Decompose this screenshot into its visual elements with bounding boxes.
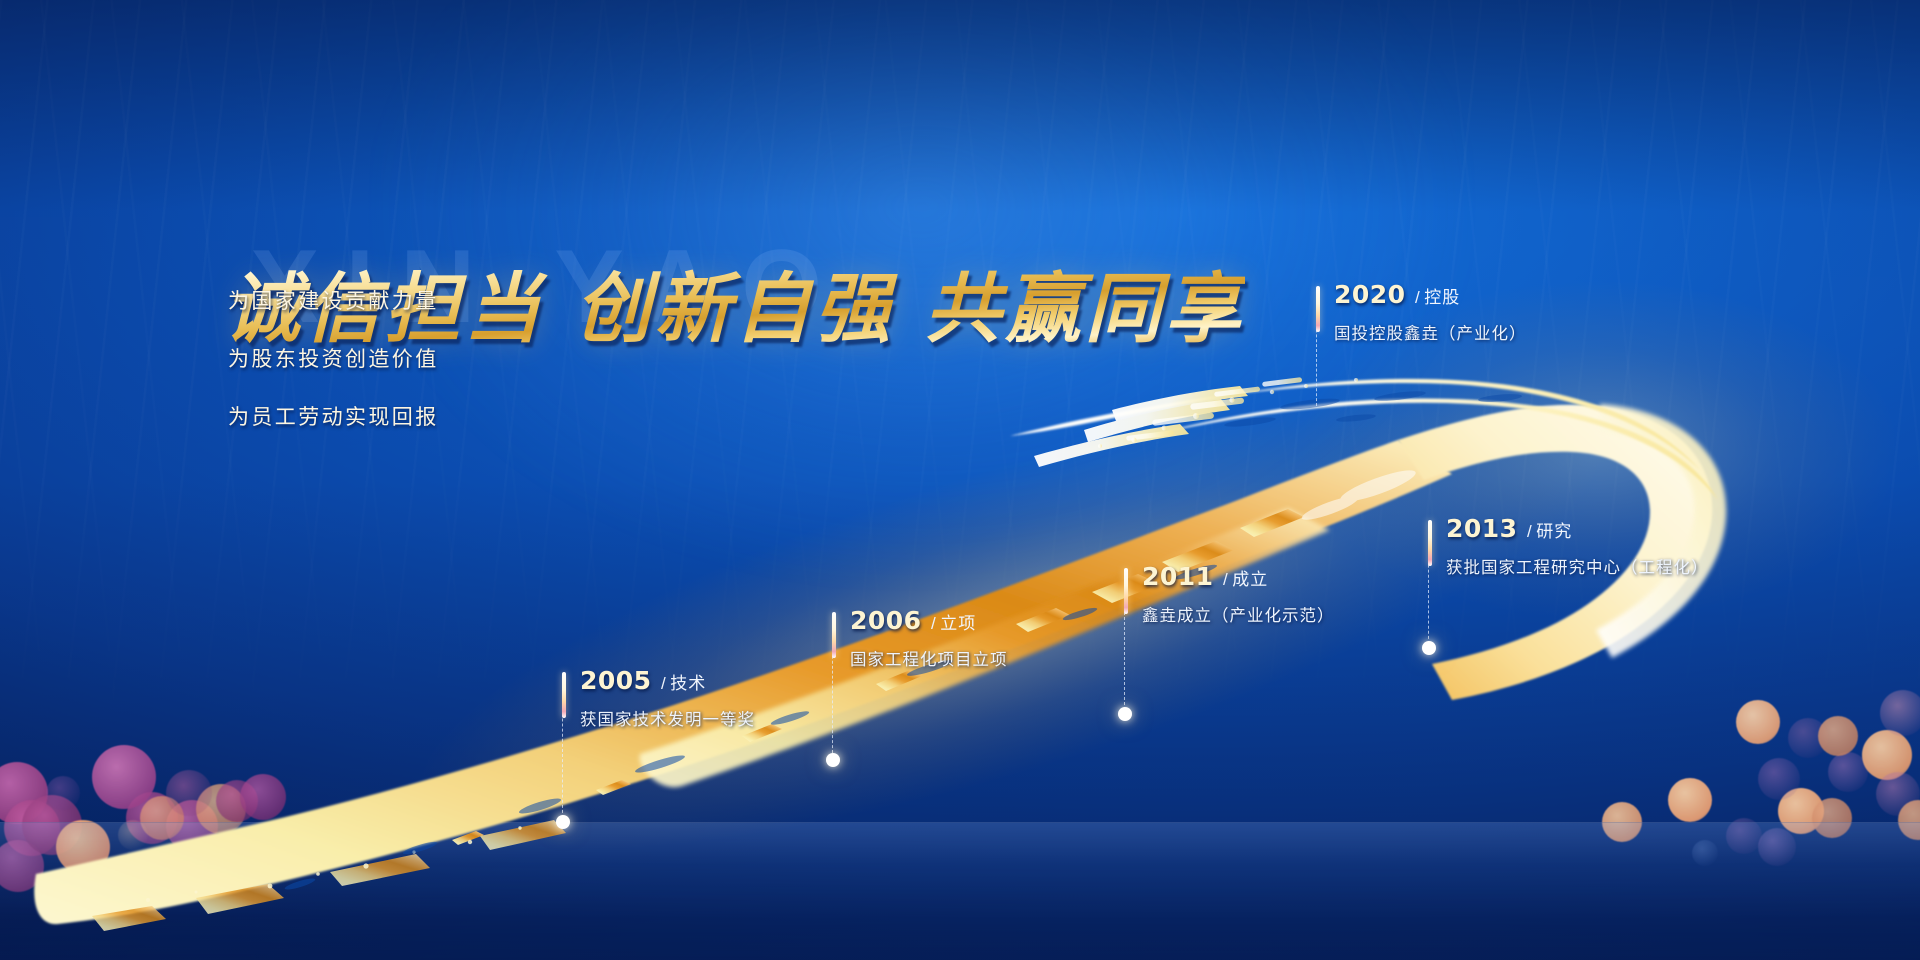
slogan-item: 为国家建设贡献力量 xyxy=(228,285,439,315)
bokeh-circle xyxy=(166,770,212,816)
milestone-accent-bar xyxy=(1316,286,1320,332)
milestone-keyword: 研究 xyxy=(1536,522,1572,541)
milestone-description: 获批国家工程研究中心（工程化） xyxy=(1446,554,1709,578)
timeline-node-2006 xyxy=(826,753,840,767)
milestone-keyword: 成立 xyxy=(1232,570,1268,589)
milestone-accent-bar xyxy=(1428,520,1432,566)
milestone-separator: / xyxy=(661,674,666,693)
milestone-keyword: 技术 xyxy=(670,674,706,693)
milestone-keyword: 立项 xyxy=(940,614,976,633)
milestone-year: 2013 xyxy=(1446,514,1518,543)
bokeh-circle xyxy=(1668,778,1712,822)
bokeh-circle xyxy=(92,745,156,809)
slogan-item: 为员工劳动实现回报 xyxy=(228,401,439,431)
bokeh-circle xyxy=(1758,758,1800,800)
milestone-separator: / xyxy=(1223,570,1228,589)
milestone-year: 2020 xyxy=(1334,280,1406,309)
milestone-text: 2006 / 立项 国家工程化项目立项 xyxy=(850,606,1008,670)
milestone-description: 鑫垚成立（产业化示范） xyxy=(1142,602,1335,626)
bokeh-circle xyxy=(46,776,80,810)
milestone-description: 国投控股鑫垚（产业化） xyxy=(1334,320,1527,344)
milestone-text: 2020 / 控股 国投控股鑫垚（产业化） xyxy=(1334,280,1527,344)
milestone-keyword: 控股 xyxy=(1424,288,1460,307)
milestone-text: 2011 / 成立 鑫垚成立（产业化示范） xyxy=(1142,562,1335,626)
timeline-node-2011 xyxy=(1118,707,1132,721)
milestone-text: 2005 / 技术 获国家技术发明一等奖 xyxy=(580,666,755,730)
milestone-accent-bar xyxy=(562,672,566,718)
bokeh-circle xyxy=(240,774,286,820)
milestone-year: 2011 xyxy=(1142,562,1214,591)
milestone-accent-bar xyxy=(832,612,836,658)
milestone-description: 国家工程化项目立项 xyxy=(850,646,1008,670)
timeline-node-2005 xyxy=(556,815,570,829)
slogan-list: 为国家建设贡献力量 为股东投资创造价值 为员工劳动实现回报 xyxy=(228,285,439,459)
bokeh-circle xyxy=(1818,716,1858,756)
milestone-separator: / xyxy=(931,614,936,633)
timeline-node-2013 xyxy=(1422,641,1436,655)
milestone-year: 2006 xyxy=(850,606,922,635)
slogan-item: 为股东投资创造价值 xyxy=(228,343,439,373)
milestone-separator: / xyxy=(1415,288,1420,307)
bokeh-circle xyxy=(1736,700,1780,744)
background-floor-band xyxy=(0,822,1920,960)
banner-stage: XIN YAO 诚信担当 创新自强 共赢同享 为国家建设贡献力量 为股东投资创造… xyxy=(0,0,1920,960)
milestone-separator: / xyxy=(1527,522,1532,541)
bokeh-circle xyxy=(1880,690,1920,736)
milestone-year: 2005 xyxy=(580,666,652,695)
milestone-description: 获国家技术发明一等奖 xyxy=(580,706,755,730)
milestone-accent-bar xyxy=(1124,568,1128,614)
milestone-text: 2013 / 研究 获批国家工程研究中心（工程化） xyxy=(1446,514,1709,578)
